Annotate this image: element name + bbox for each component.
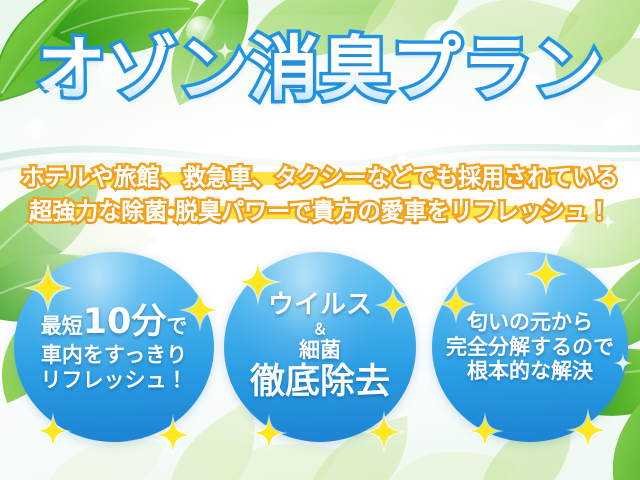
bubble-text: 根本的な解決	[467, 359, 593, 384]
bubble-line: 匂いの元から	[467, 310, 593, 335]
feature-bubble-group: 最短10分で車内をすっきりリフレッシュ！ ウイルス＆細菌徹底除去 匂いの元から完…	[0, 252, 640, 447]
bubble-text: で	[166, 314, 187, 339]
subtitle-line-2: 超強力な除菌・脱臭パワーで貴方の愛車をリフレッシュ！ 超強力な除菌・脱臭パワーで…	[0, 192, 640, 222]
promo-banner: オゾン消臭プラン オゾン消臭プラン ホテルや旅館、救急車、タクシーなどでも採用さ…	[0, 0, 640, 480]
bubble-text: 完全分解するので	[446, 335, 614, 360]
bubble-text: 徹底除去	[250, 362, 390, 403]
subtitle-line-1: ホテルや旅館、救急車、タクシーなどでも採用されている ホテルや旅館、救急車、タク…	[0, 158, 640, 188]
title-block: オゾン消臭プラン オゾン消臭プラン	[0, 34, 640, 104]
bubble-text: ＆	[312, 321, 327, 338]
bubble-text: リフレッシュ！	[41, 368, 188, 393]
feature-bubble-virus[interactable]: ウイルス＆細菌徹底除去	[224, 252, 416, 442]
bubble-text: 細菌	[299, 338, 341, 363]
bubble-line: 最短10分で	[41, 302, 188, 343]
bubble-line: 細菌	[299, 338, 341, 363]
bubble-line: 車内をすっきり	[41, 343, 187, 368]
page-title: オゾン消臭プラン	[36, 34, 604, 104]
bubble-line: 完全分解するので	[446, 335, 614, 360]
bubble-line: 徹底除去	[250, 362, 390, 403]
bubble-text: 車内をすっきり	[41, 343, 187, 368]
soft-light-orb	[24, 118, 50, 144]
soft-light-orb	[600, 112, 636, 148]
subtitle-text-2: 超強力な除菌・脱臭パワーで貴方の愛車をリフレッシュ！	[29, 199, 610, 225]
bubble-line: ウイルス	[268, 290, 372, 321]
bubble-text: 最短	[41, 314, 83, 339]
feature-bubble-speed[interactable]: 最短10分で車内をすっきりリフレッシュ！	[14, 252, 214, 442]
bubble-line: 根本的な解決	[467, 359, 593, 384]
bubble-text: 10分	[83, 302, 167, 343]
subtitle-block: ホテルや旅館、救急車、タクシーなどでも採用されている ホテルや旅館、救急車、タク…	[0, 158, 640, 226]
bubble-line: ＆	[312, 321, 327, 338]
bubble-line: リフレッシュ！	[41, 368, 188, 393]
subtitle-text-1: ホテルや旅館、救急車、タクシーなどでも採用されている	[22, 165, 619, 191]
soft-light-orb	[556, 228, 576, 248]
bubble-text: ウイルス	[268, 290, 372, 321]
feature-bubble-odor[interactable]: 匂いの元から完全分解するので根本的な解決	[432, 252, 628, 442]
bubble-text: 匂いの元から	[467, 310, 593, 335]
